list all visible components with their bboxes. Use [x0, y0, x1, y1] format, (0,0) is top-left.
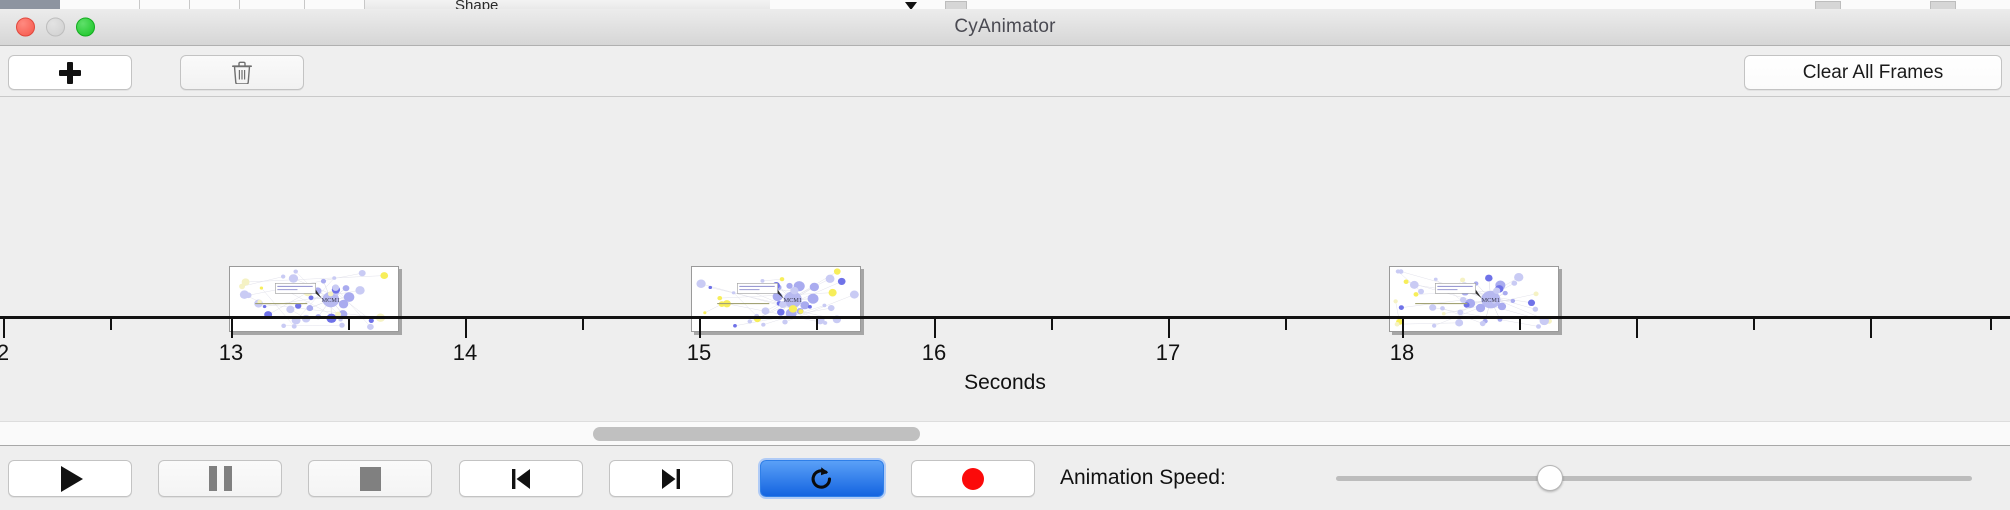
ruler-tick-label: 14	[453, 340, 477, 366]
page-title: CyAnimator	[954, 16, 1055, 38]
ruler-tick-major	[1402, 319, 1404, 338]
ruler-tick-major	[699, 319, 701, 338]
ruler-baseline	[0, 316, 2010, 319]
ruler-tick-label: 2	[0, 340, 9, 366]
ruler-tick-label: 18	[1390, 340, 1414, 366]
timeline-panel[interactable]: MCM1MCM1MCM1 2131415161718 Seconds	[0, 97, 2010, 421]
record-button[interactable]	[911, 460, 1035, 497]
stop-icon	[360, 467, 381, 491]
loop-button[interactable]	[760, 460, 884, 497]
title-bar: CyAnimator	[0, 9, 2010, 46]
ruler-tick-minor	[1990, 319, 1992, 330]
ruler-tick-major	[934, 319, 936, 338]
svg-text:MCM1: MCM1	[783, 297, 802, 304]
speed-slider-knob[interactable]	[1537, 465, 1563, 491]
frames-toolbar: Clear All Frames	[0, 46, 2010, 97]
window-controls	[16, 18, 95, 37]
delete-frame-button[interactable]	[180, 55, 304, 90]
cyanimator-window: CyAnimator Clear All Frames MCM1MCM1MCM1…	[0, 9, 2010, 510]
animation-speed-slider[interactable]	[1336, 465, 1972, 491]
animation-speed-label: Animation Speed:	[1060, 466, 1226, 490]
minimize-icon[interactable]	[46, 18, 65, 37]
ruler-tick-major	[3, 319, 5, 338]
skip-forward-icon	[659, 466, 683, 492]
ruler-tick-label: 15	[687, 340, 711, 366]
trash-icon	[232, 61, 252, 84]
ruler-tick-major	[1168, 319, 1170, 338]
time-ruler: 2131415161718 Seconds	[0, 316, 2010, 421]
skip-back-icon	[509, 466, 533, 492]
add-frame-button[interactable]	[8, 55, 132, 90]
stop-button[interactable]	[308, 460, 432, 497]
ruler-tick-minor	[1753, 319, 1755, 330]
ruler-tick-major	[231, 319, 233, 338]
timeline-scrollbar-thumb[interactable]	[593, 427, 920, 441]
ruler-tick-minor	[582, 319, 584, 330]
record-icon	[962, 468, 984, 490]
skip-to-end-button[interactable]	[609, 460, 733, 497]
clear-all-frames-label: Clear All Frames	[1803, 62, 1943, 84]
ruler-tick-major	[1636, 319, 1638, 338]
ruler-tick-minor	[816, 319, 818, 330]
ruler-tick-major	[1870, 319, 1872, 338]
plus-icon	[59, 62, 81, 84]
ruler-tick-major	[465, 319, 467, 338]
axis-title: Seconds	[0, 371, 2010, 395]
ruler-tick-minor	[110, 319, 112, 330]
ruler-tick-minor	[1285, 319, 1287, 330]
maximize-icon[interactable]	[76, 18, 95, 37]
play-button[interactable]	[8, 460, 132, 497]
ruler-tick-label: 17	[1156, 340, 1180, 366]
speed-slider-track[interactable]	[1336, 476, 1972, 481]
loop-icon	[807, 464, 837, 494]
ruler-tick-label: 13	[219, 340, 243, 366]
timeline-scrollbar[interactable]	[0, 421, 2010, 446]
pause-icon	[209, 466, 232, 491]
svg-text:MCM1: MCM1	[1481, 297, 1500, 304]
ruler-tick-minor	[1519, 319, 1521, 330]
ruler-tick-minor	[1051, 319, 1053, 330]
playback-control-bar: Animation Speed:	[0, 446, 2010, 510]
close-icon[interactable]	[16, 18, 35, 37]
ruler-tick-label: 16	[922, 340, 946, 366]
ruler-tick-minor	[348, 319, 350, 330]
clear-all-frames-button[interactable]: Clear All Frames	[1744, 55, 2002, 90]
play-icon	[61, 466, 83, 492]
skip-to-start-button[interactable]	[459, 460, 583, 497]
svg-text:MCM1: MCM1	[321, 297, 340, 304]
pause-button[interactable]	[158, 460, 282, 497]
